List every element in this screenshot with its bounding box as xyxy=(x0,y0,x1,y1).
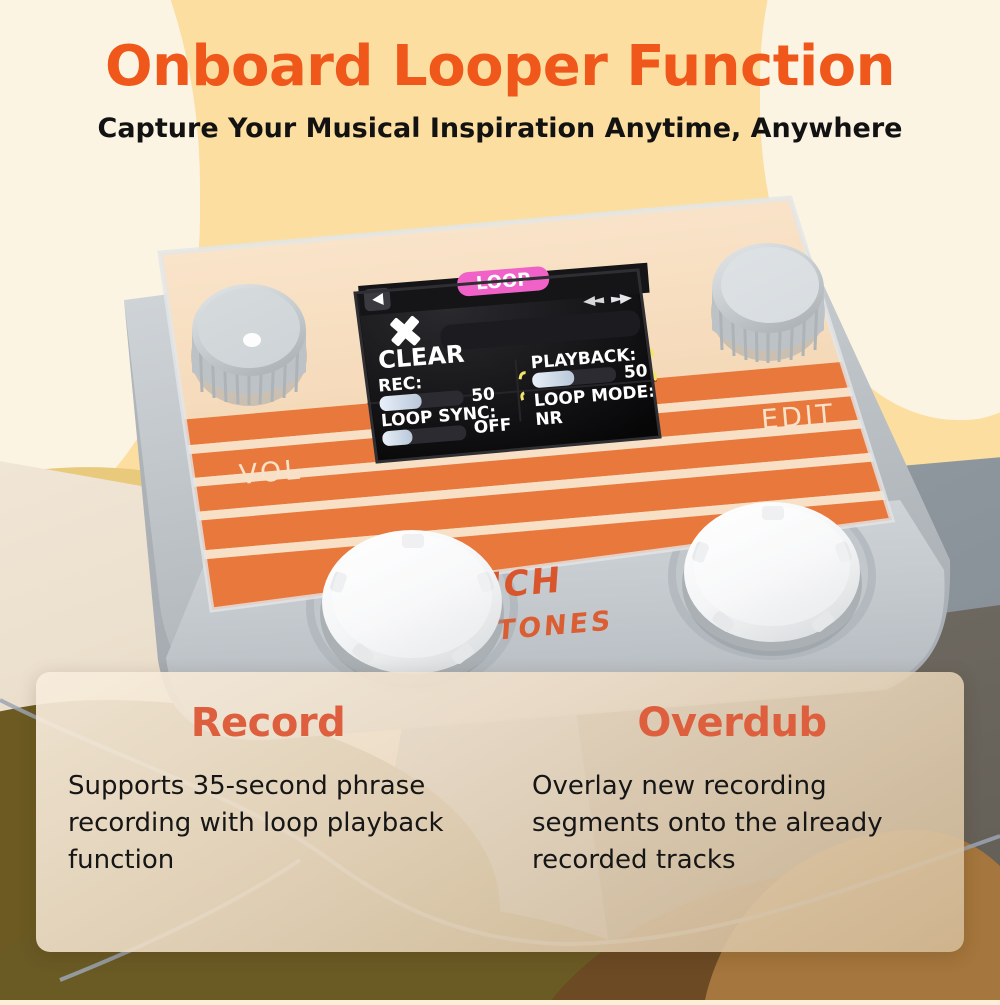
param-playback-value: 50 xyxy=(623,361,648,383)
knob-vol[interactable] xyxy=(191,284,307,406)
feature-cards: Record Supports 35-second phrase recordi… xyxy=(36,672,964,952)
knob-label-vol: VOL xyxy=(238,455,304,491)
page-subtitle: Capture Your Musical Inspiration Anytime… xyxy=(0,113,1000,144)
header: Onboard Looper Function Capture Your Mus… xyxy=(0,0,1000,144)
knob-vol-indicator-dot xyxy=(243,333,261,347)
card-overdub-body: Overlay new recording segments onto the … xyxy=(532,768,932,879)
knob-label-vol-text: VOL xyxy=(238,455,304,491)
card-overdub-title: Overdub xyxy=(532,700,932,746)
param-loop-mode-value: NR xyxy=(535,408,564,430)
knob-label-edit-text: EDIT xyxy=(760,399,837,436)
card-overdub: Overdub Overlay new recording segments o… xyxy=(500,672,964,952)
page-title: Onboard Looper Function xyxy=(0,38,1000,97)
param-rec-label: REC: xyxy=(377,373,422,396)
card-record-body: Supports 35-second phrase recording with… xyxy=(68,768,468,879)
card-record-title: Record xyxy=(68,700,468,746)
footswitch-right[interactable] xyxy=(682,502,862,656)
knob-edit[interactable] xyxy=(711,243,825,363)
footswitch-left[interactable] xyxy=(320,530,504,688)
knob-label-edit: EDIT xyxy=(760,399,837,436)
card-record: Record Supports 35-second phrase recordi… xyxy=(36,672,500,952)
param-loop-sync-value: OFF xyxy=(473,415,512,438)
lcd-screen[interactable]: LOOP CLEAR xyxy=(355,258,660,462)
